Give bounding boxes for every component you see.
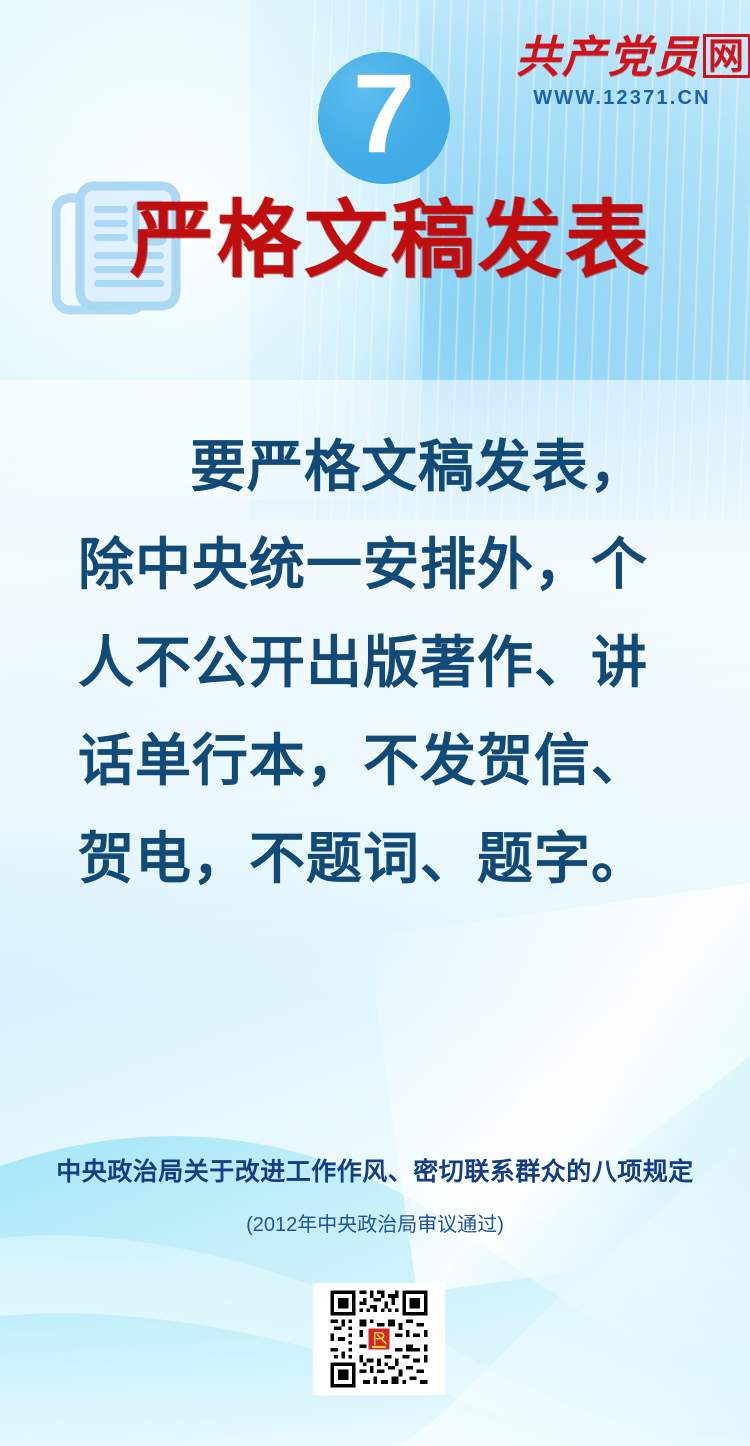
logo-brand-suffix: 网 — [703, 34, 750, 78]
page-title: 严格文稿发表 — [130, 196, 652, 284]
number-badge-value: 7 — [353, 58, 415, 170]
poster-canvas: 共产党员网 WWW.12371.CN 7 严格文稿发表 要严格文稿发表，除中央统… — [0, 0, 750, 1446]
qr-code-image — [317, 1287, 441, 1391]
logo-url: WWW.12371.CN — [516, 88, 728, 108]
body-paragraph: 要严格文稿发表，除中央统一安排外，个人不公开出版著作、讲话单行本，不发贺信、贺电… — [78, 418, 674, 908]
footer-regulation-subtitle: (2012年中央政治局审议通过) — [0, 1208, 750, 1237]
logo-brand-calligraphy: 共产党员 — [516, 33, 700, 82]
number-badge: 7 — [318, 52, 450, 184]
footer-regulation-title: 中央政治局关于改进工作作风、密切联系群众的八项规定 — [0, 1152, 750, 1188]
site-logo[interactable]: 共产党员网 WWW.12371.CN — [516, 34, 728, 108]
logo-brand-text: 共产党员网 — [516, 34, 728, 80]
party-emblem-icon — [366, 1326, 391, 1351]
qr-code[interactable] — [313, 1283, 445, 1395]
